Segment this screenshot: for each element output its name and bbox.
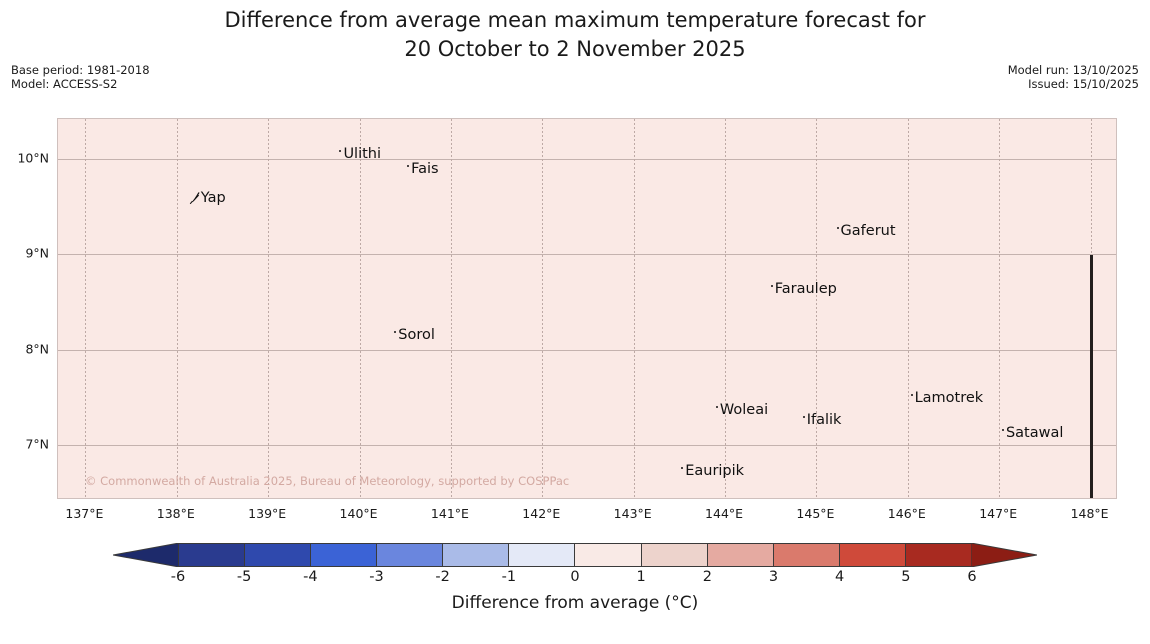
gridline-lon-146 bbox=[908, 119, 909, 498]
colorbar-segment-3 bbox=[377, 544, 443, 566]
place-label: Eauripik bbox=[685, 464, 744, 479]
y-axis-tick-label: 9°N bbox=[25, 246, 49, 261]
title-line-2: 20 October to 2 November 2025 bbox=[0, 35, 1150, 64]
colorbar-segment-2 bbox=[311, 544, 377, 566]
place-dot-icon bbox=[394, 331, 396, 333]
metadata-right: Model run: 13/10/2025 Issued: 15/10/2025 bbox=[1008, 63, 1139, 91]
place-label: Sorol bbox=[398, 328, 435, 343]
title-line-1: Difference from average mean maximum tem… bbox=[0, 6, 1150, 35]
colorbar-segment-11 bbox=[906, 544, 971, 566]
place-dot-icon bbox=[1002, 429, 1004, 431]
map-panel[interactable]: UlithiFaisYapGaferutFaraulepSorolWoleaiI… bbox=[57, 118, 1117, 499]
gridline-lon-140 bbox=[360, 119, 361, 498]
x-axis-tick-label: 148°E bbox=[1071, 506, 1109, 521]
colorbar-under-arrow-icon bbox=[113, 543, 179, 567]
colorbar-tick-label: -5 bbox=[237, 569, 251, 585]
gridline-lon-138 bbox=[177, 119, 178, 498]
y-axis-tick-label: 7°N bbox=[25, 436, 49, 451]
y-axis-tick-label: 8°N bbox=[25, 341, 49, 356]
colorbar-segment-7 bbox=[642, 544, 708, 566]
colorbar-tick-label: -2 bbox=[435, 569, 449, 585]
x-axis-tick-label: 147°E bbox=[979, 506, 1017, 521]
gridline-lat-7 bbox=[58, 445, 1116, 446]
place-dot-icon bbox=[771, 285, 773, 287]
colorbar-tick-label: 4 bbox=[835, 569, 844, 585]
colorbar-tick-label: 2 bbox=[703, 569, 712, 585]
place-label: Gaferut bbox=[841, 224, 896, 239]
colorbar-tick-label: 3 bbox=[769, 569, 778, 585]
place-label: Ulithi bbox=[343, 147, 381, 162]
colorbar-segment-8 bbox=[708, 544, 774, 566]
place-dot-icon bbox=[911, 394, 913, 396]
base-period-text: Base period: 1981-2018 bbox=[11, 63, 150, 77]
place-label: Woleai bbox=[720, 403, 768, 418]
x-axis-tick-label: 138°E bbox=[157, 506, 195, 521]
metadata-left: Base period: 1981-2018 Model: ACCESS-S2 bbox=[11, 63, 150, 91]
place-label: Yap bbox=[201, 191, 226, 206]
gridline-lat-9 bbox=[58, 254, 1116, 255]
gridline-lon-139 bbox=[268, 119, 269, 498]
colorbar-segments[interactable] bbox=[178, 543, 972, 567]
boundary-line bbox=[1090, 255, 1093, 499]
x-axis-tick-label: 144°E bbox=[705, 506, 743, 521]
colorbar-segment-5 bbox=[509, 544, 575, 566]
x-axis-tick-label: 146°E bbox=[888, 506, 926, 521]
place-label: Lamotrek bbox=[915, 391, 984, 406]
x-axis-tick-label: 143°E bbox=[614, 506, 652, 521]
colorbar-segment-0 bbox=[179, 544, 245, 566]
colorbar-tick-label: 6 bbox=[967, 569, 976, 585]
x-axis-tick-label: 139°E bbox=[248, 506, 286, 521]
x-axis-tick-label: 142°E bbox=[522, 506, 560, 521]
place-dot-icon bbox=[803, 416, 805, 418]
colorbar-tick-label: 5 bbox=[901, 569, 910, 585]
gridline-lon-141 bbox=[451, 119, 452, 498]
place-label: Satawal bbox=[1006, 426, 1063, 441]
x-axis-tick-label: 137°E bbox=[65, 506, 103, 521]
colorbar[interactable] bbox=[113, 543, 1037, 567]
colorbar-tick-label: -3 bbox=[369, 569, 383, 585]
page-title: Difference from average mean maximum tem… bbox=[0, 6, 1150, 64]
colorbar-segment-9 bbox=[774, 544, 840, 566]
colorbar-tick-label: -4 bbox=[303, 569, 317, 585]
colorbar-tick-label: -6 bbox=[171, 569, 185, 585]
gridline-lon-147 bbox=[999, 119, 1000, 498]
model-text: Model: ACCESS-S2 bbox=[11, 77, 150, 91]
copyright-text: © Commonwealth of Australia 2025, Bureau… bbox=[85, 474, 569, 488]
gridline-lon-137 bbox=[85, 119, 86, 498]
gridline-lon-145 bbox=[816, 119, 817, 498]
gridline-lon-142 bbox=[542, 119, 543, 498]
gridline-lon-144 bbox=[725, 119, 726, 498]
colorbar-tick-label: 0 bbox=[570, 569, 579, 585]
place-dot-icon bbox=[339, 150, 341, 152]
place-dot-icon bbox=[681, 467, 683, 469]
colorbar-segment-6 bbox=[575, 544, 641, 566]
place-label: Ifalik bbox=[807, 413, 842, 428]
colorbar-tick-label: 1 bbox=[637, 569, 646, 585]
issued-text: Issued: 15/10/2025 bbox=[1008, 77, 1139, 91]
gridline-lat-8 bbox=[58, 350, 1116, 351]
colorbar-over-arrow-icon bbox=[971, 543, 1037, 567]
y-axis-tick-label: 10°N bbox=[17, 151, 49, 166]
gridline-lat-10 bbox=[58, 159, 1116, 160]
x-axis-tick-label: 141°E bbox=[431, 506, 469, 521]
place-dot-icon bbox=[716, 406, 718, 408]
colorbar-segment-10 bbox=[840, 544, 906, 566]
colorbar-tick-label: -1 bbox=[502, 569, 516, 585]
place-label: Faraulep bbox=[775, 282, 837, 297]
x-axis-tick-label: 145°E bbox=[796, 506, 834, 521]
colorbar-label: Difference from average (°C) bbox=[0, 593, 1150, 613]
gridline-lon-143 bbox=[634, 119, 635, 498]
place-dot-icon bbox=[407, 165, 409, 167]
x-axis-tick-label: 140°E bbox=[340, 506, 378, 521]
colorbar-segment-1 bbox=[245, 544, 311, 566]
place-label: Fais bbox=[411, 162, 438, 177]
place-dot-icon bbox=[837, 227, 839, 229]
colorbar-segment-4 bbox=[443, 544, 509, 566]
model-run-text: Model run: 13/10/2025 bbox=[1008, 63, 1139, 77]
